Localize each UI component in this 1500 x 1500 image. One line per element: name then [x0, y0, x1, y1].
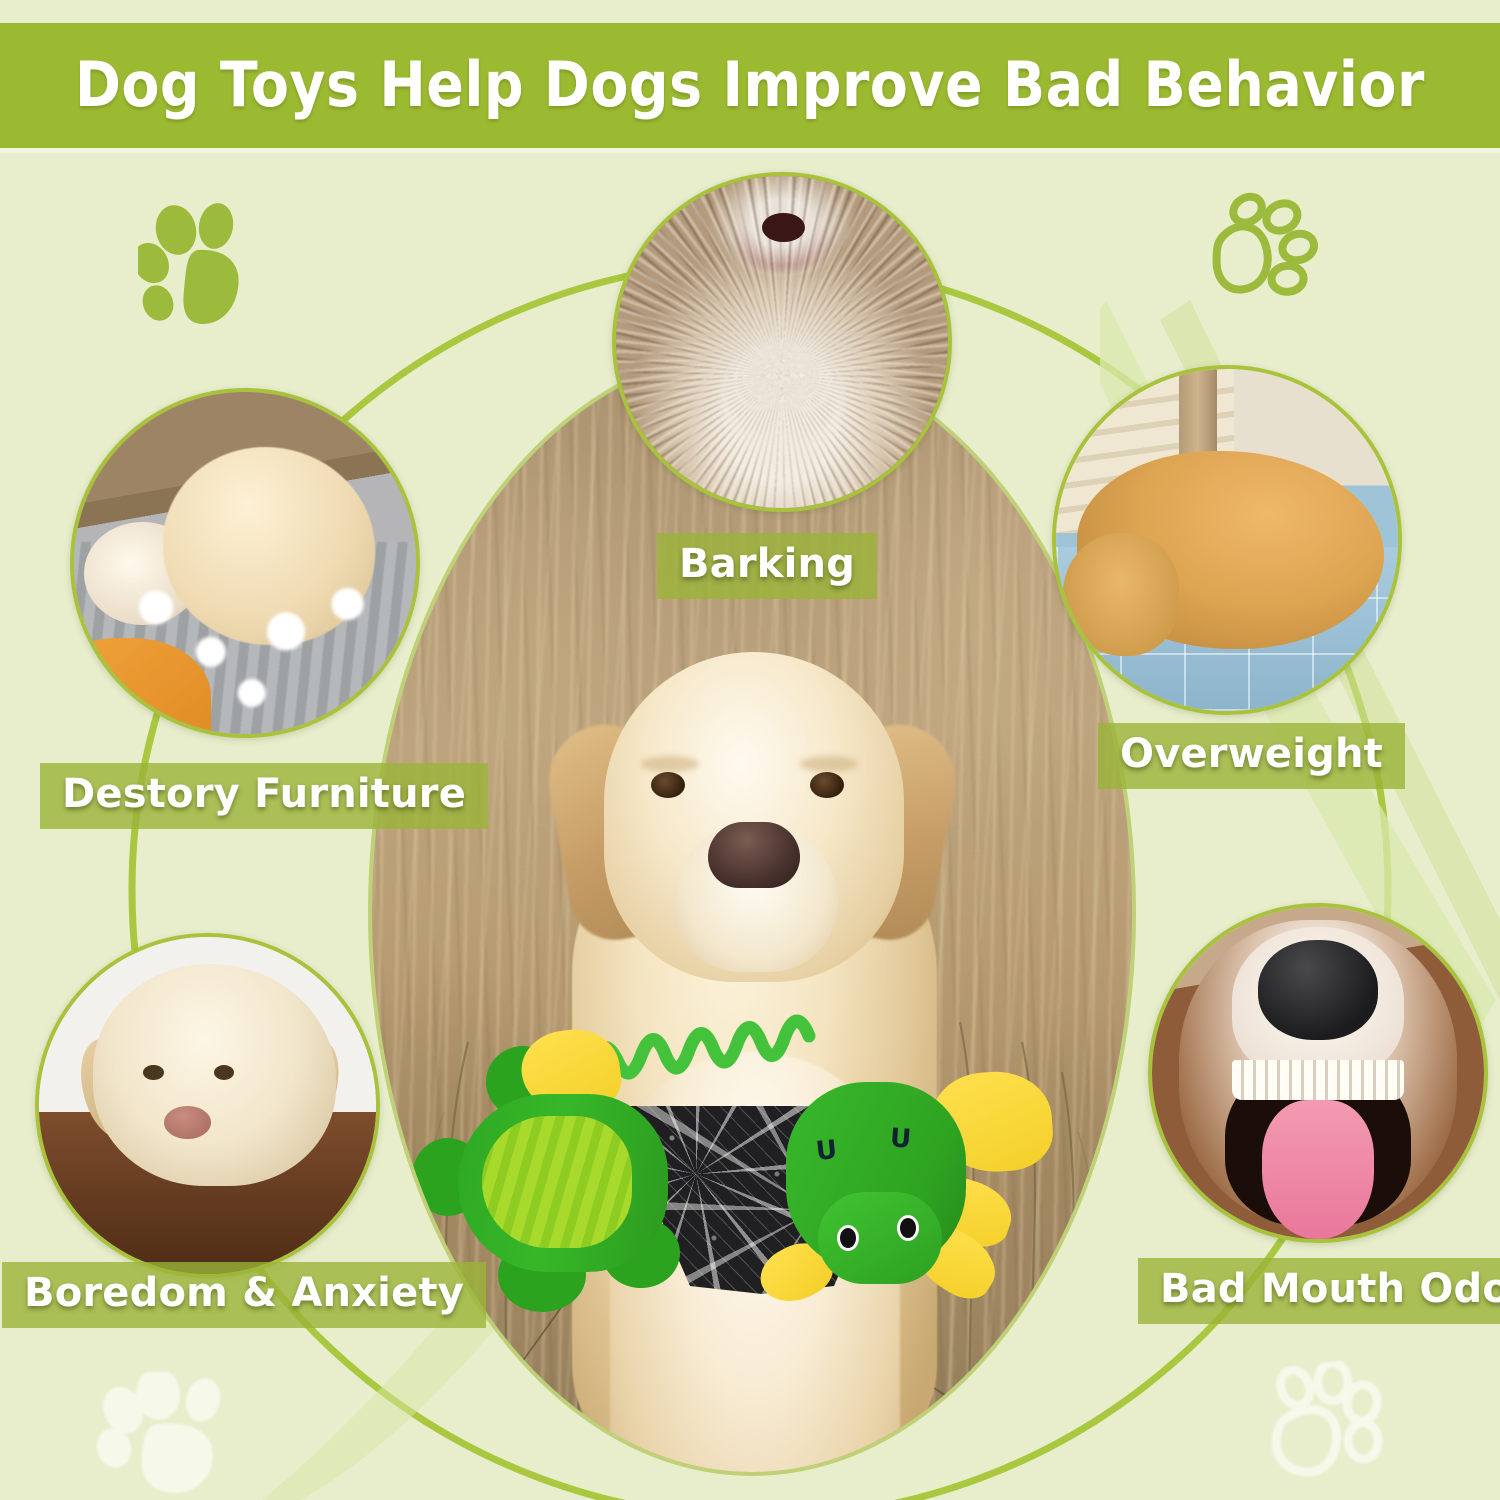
- bad-mouth-odor-photo: [1148, 903, 1488, 1243]
- overweight-dog-photo: [1052, 365, 1402, 715]
- paw-print-outline-icon: [1190, 182, 1337, 329]
- label-barking: Barking: [657, 533, 877, 599]
- bored-dog-photo: [35, 933, 380, 1278]
- top-strip: [0, 0, 1500, 23]
- plush-toy-right: U U: [742, 1052, 1002, 1342]
- infographic-canvas: Dog Toys Help Dogs Improve Bad Behavior: [0, 0, 1500, 1500]
- barking-dog-photo: [612, 172, 952, 512]
- paw-print-icon: [138, 200, 258, 325]
- page-title: Dog Toys Help Dogs Improve Bad Behavior: [75, 49, 1425, 122]
- header-banner: Dog Toys Help Dogs Improve Bad Behavior: [0, 23, 1500, 148]
- paw-print-outline-icon: [1251, 1355, 1415, 1500]
- paw-print-icon: [96, 1372, 246, 1500]
- label-bad-mouth-odor: Bad Mouth Odor: [1138, 1258, 1500, 1324]
- label-destory-furniture: Destory Furniture: [40, 763, 488, 829]
- destroyed-furniture-photo: [70, 388, 420, 738]
- header-underline: [0, 148, 1500, 153]
- label-overweight: Overweight: [1098, 723, 1405, 789]
- label-boredom-anxiety: Boredom & Anxiety: [2, 1262, 486, 1328]
